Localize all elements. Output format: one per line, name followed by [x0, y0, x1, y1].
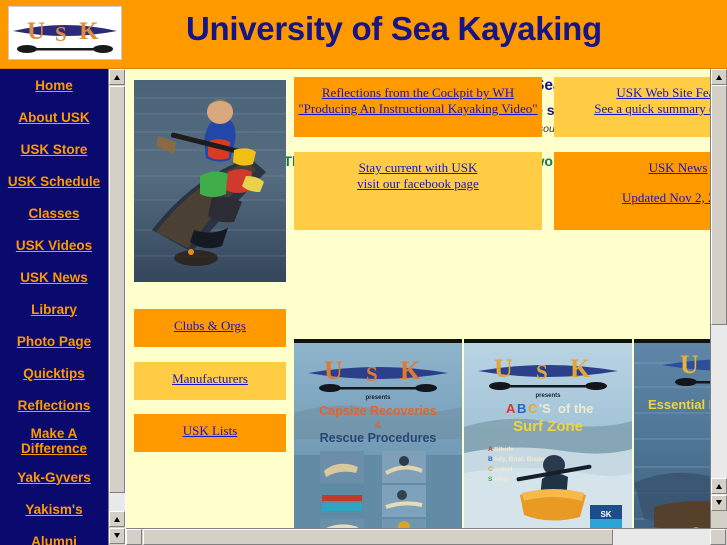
svg-text:'S: 'S [539, 401, 551, 416]
sidebar-item-usk-schedule[interactable]: USK Schedule [0, 165, 108, 197]
main-scroll-left-icon[interactable] [126, 529, 142, 545]
news-updated-link[interactable]: Updated Nov 2, 2014 [554, 190, 710, 206]
features-panel[interactable]: USK Web Site Features See a quick summar… [554, 77, 710, 137]
sidebar-item-photo-page[interactable]: Photo Page [0, 325, 108, 357]
svg-text:S: S [488, 476, 493, 483]
manufacturers-box[interactable]: Manufacturers [134, 362, 286, 400]
video-cover-abcs-surf-zone[interactable]: U S K presents A B C 'S of the Surf Zone… [464, 339, 632, 528]
video-cover-2-image: U S K presents A B C 'S of the Surf Zone… [464, 343, 632, 528]
svg-text:C: C [488, 466, 493, 473]
sidebar-item-make-a-difference[interactable]: Make A Difference [0, 421, 108, 461]
usk-lists-link[interactable]: USK Lists [183, 423, 238, 438]
svg-text:S: S [366, 362, 378, 386]
svg-text:Capsize Recoveries: Capsize Recoveries [319, 404, 436, 418]
main-scroll-up-icon[interactable] [711, 69, 727, 85]
svg-text:K: K [79, 18, 99, 45]
sidebar-item-home[interactable]: Home [0, 69, 108, 101]
svg-text:presents: presents [535, 393, 561, 399]
svg-text:&: & [375, 420, 382, 430]
reflections-link-1[interactable]: Reflections from the Cockpit by WH [294, 85, 542, 101]
main-hscroll-thumb[interactable] [143, 529, 613, 545]
sidebar-item-alumni[interactable]: Alumni [0, 525, 108, 545]
reflections-panel[interactable]: Reflections from the Cockpit by WH "Prod… [294, 77, 542, 137]
svg-text:A: A [506, 401, 516, 416]
svg-text:ody, Boat, Blade: ody, Boat, Blade [494, 456, 545, 463]
sidebar-scrollbar[interactable] [108, 69, 125, 545]
svg-text:U: U [494, 354, 513, 383]
sidebar-scrollbar-thumb[interactable] [109, 86, 125, 493]
svg-text:K: K [570, 354, 591, 383]
usk-lists-box[interactable]: USK Lists [134, 414, 286, 452]
news-panel[interactable]: USK News Updated Nov 2, 2014 [554, 152, 710, 230]
sidebar-items: Home About USK USK Store USK Schedule Cl… [0, 69, 108, 545]
sidebar-item-usk-store[interactable]: USK Store [0, 133, 108, 165]
svg-text:ontrol: ontrol [494, 466, 513, 473]
main-content: Welcome to the University of Sea Kayakin… [126, 69, 710, 528]
manufacturers-link[interactable]: Manufacturers [172, 371, 248, 386]
clubs-orgs-link[interactable]: Clubs & Orgs [174, 318, 246, 333]
video-cover-essential-kayaking[interactable]: U S K Essential Kayaking [634, 339, 710, 528]
svg-text:ttitude: ttitude [494, 446, 514, 453]
facebook-link-1[interactable]: Stay current with USK [294, 160, 542, 176]
main-horizontal-scrollbar[interactable] [126, 528, 727, 545]
svg-text:SK: SK [600, 510, 611, 519]
sidebar-item-reflections[interactable]: Reflections [0, 389, 108, 421]
sidebar-item-usk-news[interactable]: USK News [0, 261, 108, 293]
svg-text:B: B [517, 401, 526, 416]
svg-text:C: C [528, 401, 538, 416]
sidebar-scroll-up-icon[interactable] [109, 69, 125, 85]
svg-text:afety: afety [494, 476, 510, 483]
svg-text:S: S [536, 360, 548, 384]
svg-text:of the: of the [558, 401, 593, 416]
main-vscroll-thumb[interactable] [711, 85, 727, 325]
sidebar-scroll-up2-icon[interactable] [109, 511, 125, 527]
usk-logo-icon: U S K [9, 7, 121, 59]
sidebar-scroll-down-icon[interactable] [109, 528, 125, 544]
sidebar-item-library[interactable]: Library [0, 293, 108, 325]
svg-text:Essential Kayaking: Essential Kayaking [648, 397, 710, 412]
news-link-1[interactable]: USK News [554, 160, 710, 176]
sidebar-item-usk-videos[interactable]: USK Videos [0, 229, 108, 261]
video-cover-1-image: U S K presents Capsize Recoveries & Resc… [294, 343, 462, 528]
svg-text:Surf Zone: Surf Zone [513, 418, 583, 435]
sidebar-nav: Home About USK USK Store USK Schedule Cl… [0, 69, 108, 545]
sidebar-item-yak-gyvers[interactable]: Yak-Gyvers [0, 461, 108, 493]
sidebar-item-yakisms[interactable]: Yakism's [0, 493, 108, 525]
facebook-panel[interactable]: Stay current with USK visit our facebook… [294, 152, 542, 230]
facebook-link-2[interactable]: visit our facebook page [294, 176, 542, 192]
features-link-1[interactable]: USK Web Site Features [554, 85, 710, 101]
svg-text:U: U [324, 356, 343, 385]
svg-text:A: A [488, 446, 493, 453]
sidebar-item-classes[interactable]: Classes [0, 197, 108, 229]
main-scroll-down-icon[interactable] [711, 495, 727, 511]
reflections-link-2[interactable]: "Producing An Instructional Kayaking Vid… [294, 101, 542, 117]
page-root: U S K University of Sea Kayaking Home Ab… [0, 0, 727, 545]
features-link-2[interactable]: See a quick summary of our site [554, 101, 710, 117]
svg-text:U: U [680, 350, 699, 379]
kayaker-photo-image [134, 80, 286, 282]
page-title: University of Sea Kayaking [186, 10, 602, 48]
svg-text:S: S [55, 22, 67, 46]
svg-text:U: U [27, 18, 45, 45]
video-cover-3-image: U S K Essential Kayaking [634, 343, 710, 528]
svg-text:Rescue Procedures: Rescue Procedures [320, 431, 437, 445]
usk-logo[interactable]: U S K [8, 6, 122, 60]
kayaker-photo [134, 80, 286, 282]
video-cover-capsize-recoveries[interactable]: U S K presents Capsize Recoveries & Resc… [294, 339, 462, 528]
site-header: U S K University of Sea Kayaking [0, 0, 727, 69]
svg-text:B: B [488, 456, 493, 463]
svg-text:K: K [400, 356, 421, 385]
sidebar-item-label: Make A Difference [21, 426, 87, 456]
main-scroll-up2-icon[interactable] [711, 478, 727, 494]
main-vertical-scrollbar[interactable] [710, 69, 727, 528]
sidebar-item-quicktips[interactable]: Quicktips [0, 357, 108, 389]
main-scroll-right-icon[interactable] [710, 529, 726, 545]
clubs-orgs-box[interactable]: Clubs & Orgs [134, 309, 286, 347]
sidebar-item-about-usk[interactable]: About USK [0, 101, 108, 133]
svg-text:presents: presents [365, 395, 391, 401]
